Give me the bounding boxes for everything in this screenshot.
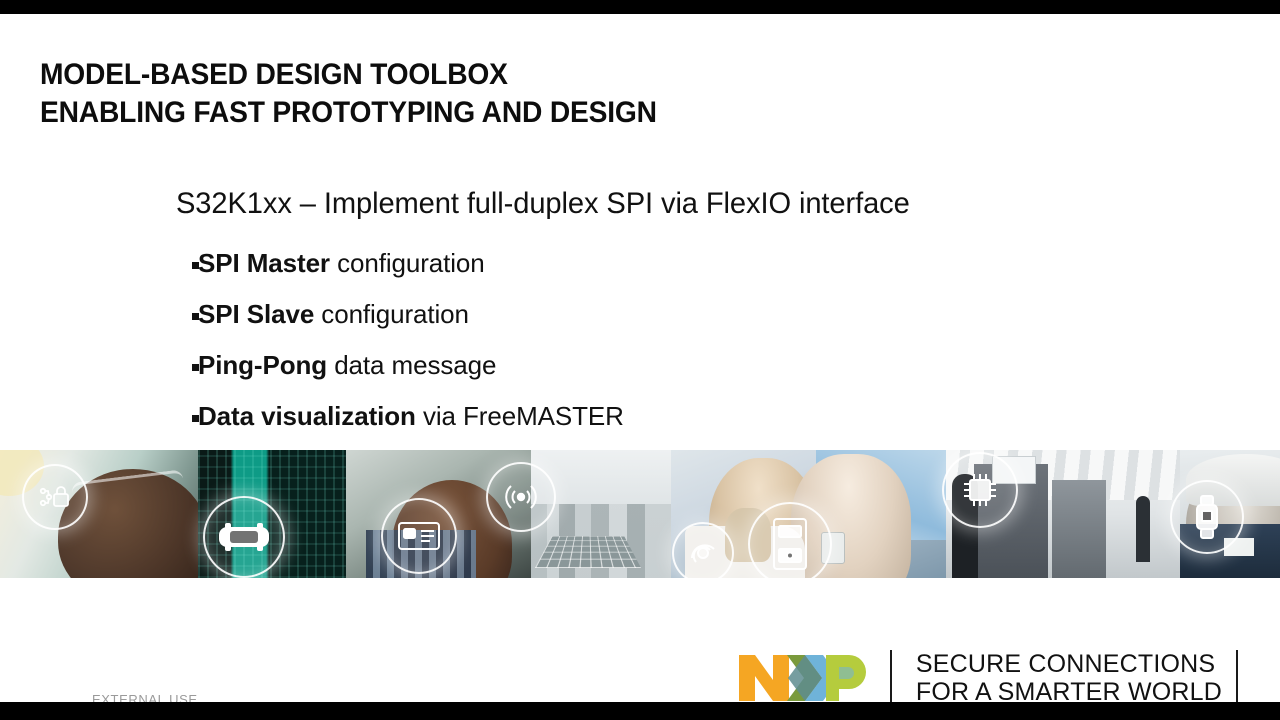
- page-title-line-1: MODEL-BASED DESIGN TOOLBOX: [40, 56, 1074, 94]
- list-item-rest: configuration: [330, 248, 485, 278]
- security-lock-icon: [22, 464, 88, 530]
- photo-band: URE NECTIONS AL RTER RLD: [0, 450, 1280, 578]
- list-item-rest: data message: [327, 350, 496, 380]
- list-item-strong: SPI Master: [198, 248, 330, 278]
- body-block: S32K1xx – Implement full-duplex SPI via …: [176, 184, 1176, 442]
- list-item: Data visualization via FreeMASTER: [176, 391, 1176, 442]
- nfc-wave-icon: [672, 522, 734, 578]
- brand-tagline-line-2: FOR A SMARTER WORLD: [916, 678, 1222, 702]
- list-item-strong: SPI Slave: [198, 299, 314, 329]
- square-bullet-icon: [192, 313, 199, 320]
- brand-divider-left: [890, 650, 892, 702]
- passport-icon: [748, 502, 832, 578]
- brand-divider-right: [1236, 650, 1238, 702]
- traveler-silhouette-far: [1136, 496, 1150, 562]
- letterbox-bar-top: [0, 0, 1280, 14]
- square-bullet-icon: [192, 364, 199, 371]
- brand-tagline: SECURE CONNECTIONS FOR A SMARTER WORLD: [916, 650, 1222, 702]
- smartwatch-icon: [1170, 480, 1244, 554]
- microcontroller-chip-icon: [942, 452, 1018, 528]
- wireless-signal-icon: [486, 462, 556, 532]
- band-panel-city-skyline: [531, 450, 671, 578]
- nxp-logo: [737, 653, 868, 702]
- list-item: Ping-Pong data message: [176, 340, 1176, 391]
- smart-card-icon: [381, 498, 457, 574]
- list-item-rest: via FreeMASTER: [416, 401, 624, 431]
- square-bullet-icon: [192, 415, 199, 422]
- bullet-list: SPI Master configuration SPI Slave confi…: [176, 238, 1176, 442]
- page-title-line-2: ENABLING FAST PROTOTYPING AND DESIGN: [40, 94, 1074, 132]
- slide-subtitle: S32K1xx – Implement full-duplex SPI via …: [176, 184, 1146, 224]
- brand-lockup: SECURE CONNECTIONS FOR A SMARTER WORLD: [737, 648, 1238, 702]
- page-title: MODEL-BASED DESIGN TOOLBOX ENABLING FAST…: [40, 56, 1074, 132]
- check-in-kiosk-secondary: [1052, 480, 1106, 578]
- slide-root: MODEL-BASED DESIGN TOOLBOX ENABLING FAST…: [0, 0, 1280, 720]
- list-item-strong: Data visualization: [198, 401, 416, 431]
- external-use-label: EXTERNAL USE: [92, 692, 198, 702]
- letterbox-bar-bottom: [0, 702, 1280, 720]
- car-top-view-icon: [203, 496, 285, 578]
- slide-canvas: MODEL-BASED DESIGN TOOLBOX ENABLING FAST…: [0, 14, 1280, 702]
- solar-grid: [535, 536, 641, 568]
- glasses-highlight: [71, 469, 185, 507]
- list-item: SPI Slave configuration: [176, 289, 1176, 340]
- list-item-rest: configuration: [314, 299, 469, 329]
- list-item-strong: Ping-Pong: [198, 350, 327, 380]
- square-bullet-icon: [192, 262, 199, 269]
- list-item: SPI Master configuration: [176, 238, 1176, 289]
- brand-tagline-line-1: SECURE CONNECTIONS: [916, 650, 1222, 678]
